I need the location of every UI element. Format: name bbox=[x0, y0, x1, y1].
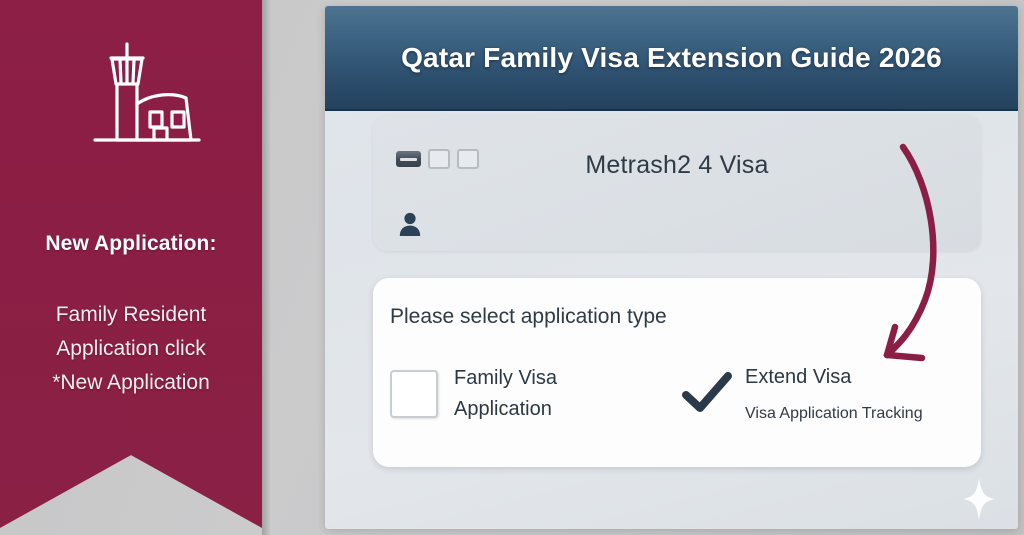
option-visa-application-tracking-label: Visa Application Tracking bbox=[745, 401, 923, 427]
panel-header-bar: Qatar Family Visa Extension Guide 2026 bbox=[325, 6, 1018, 111]
select-application-type-label: Please select application type bbox=[390, 305, 667, 329]
app-card-title: Metrash2 4 Visa bbox=[373, 151, 981, 180]
app-info-card: Metrash2 4 Visa bbox=[373, 115, 981, 251]
ribbon-heading: New Application: bbox=[0, 232, 262, 256]
application-type-card: Please select application type Family Vi… bbox=[373, 278, 981, 467]
option-extend-visa-label: Extend Visa bbox=[745, 364, 923, 390]
person-icon bbox=[397, 211, 423, 237]
empty-checkbox-icon[interactable] bbox=[390, 370, 438, 418]
ribbon-body-text: Family Resident Application click *New A… bbox=[0, 298, 262, 400]
option-extend-visa-labels: Extend Visa Visa Application Tracking bbox=[745, 364, 923, 427]
option-family-visa-label-line1: Family Visa bbox=[454, 366, 557, 390]
airport-control-tower-icon bbox=[81, 40, 203, 150]
option-family-visa-labels: Family Visa Application bbox=[454, 366, 557, 421]
page-title: Qatar Family Visa Extension Guide 2026 bbox=[401, 42, 942, 74]
screenshot-root: New Application: Family Resident Applica… bbox=[0, 0, 1024, 535]
ribbon-body-line-3: *New Application bbox=[0, 366, 262, 400]
ribbon-body-line-2: Application click bbox=[0, 332, 262, 366]
option-family-visa-application[interactable]: Family Visa Application bbox=[390, 366, 557, 421]
option-extend-visa[interactable]: Extend Visa Visa Application Tracking bbox=[681, 364, 923, 427]
app-screenshot-panel: Qatar Family Visa Extension Guide 2026 M… bbox=[325, 6, 1018, 529]
ribbon-body-line-1: Family Resident bbox=[0, 298, 262, 332]
sparkle-icon bbox=[962, 478, 996, 520]
option-family-visa-label-line2: Application bbox=[454, 397, 557, 421]
checkmark-icon[interactable] bbox=[681, 370, 733, 416]
